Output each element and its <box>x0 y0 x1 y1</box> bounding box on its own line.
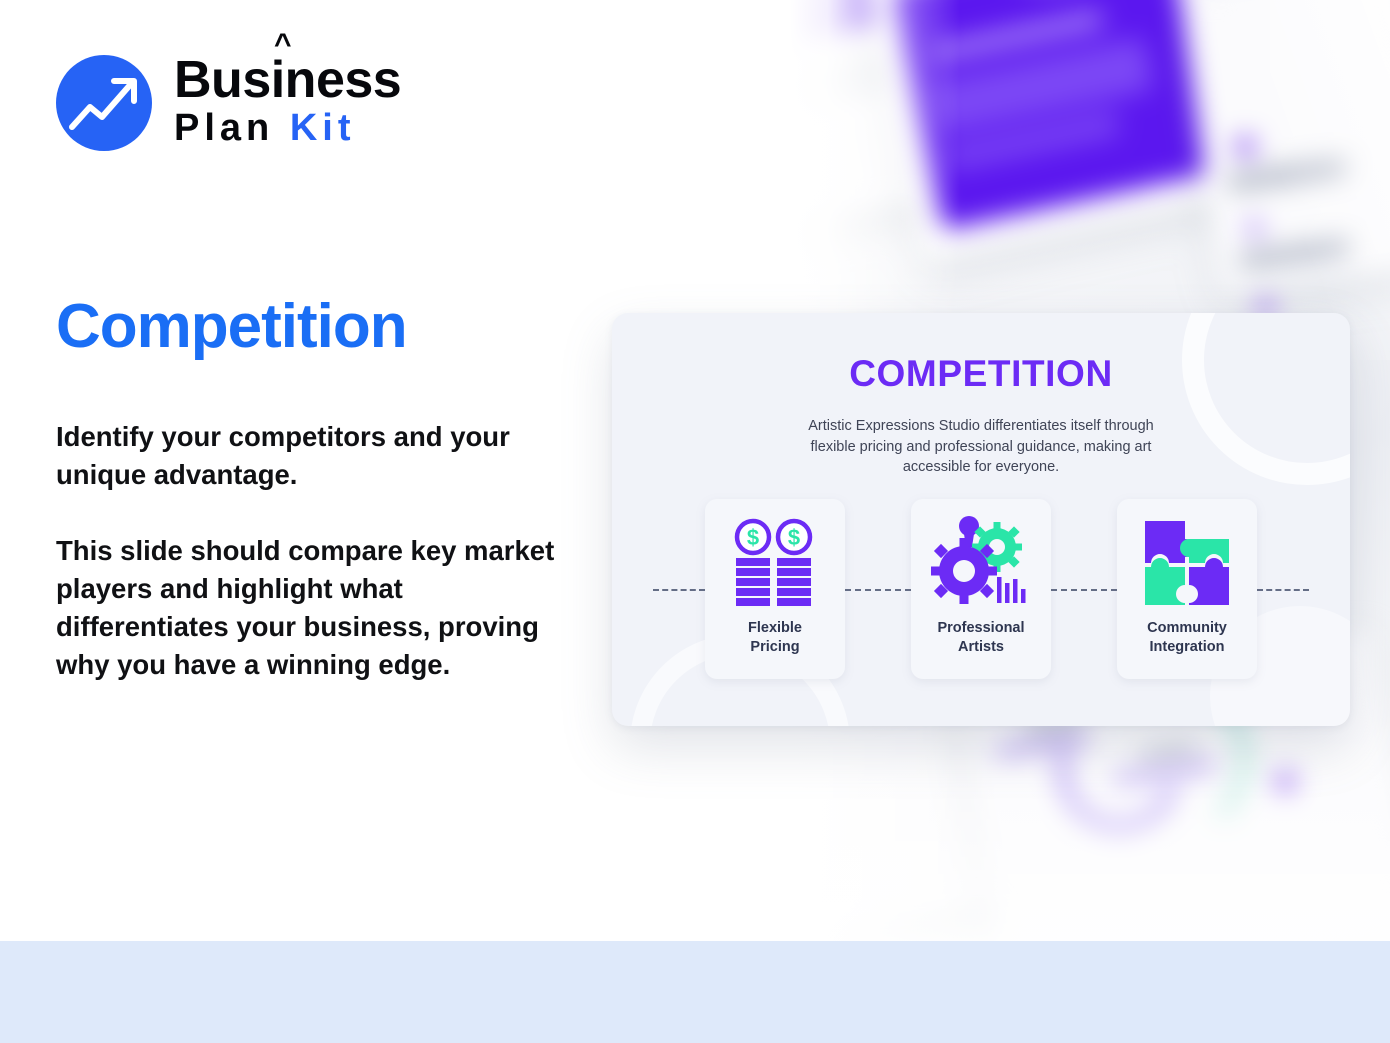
page-title: Competition <box>56 296 407 358</box>
lead-paragraph: Identify your competitors and your uniqu… <box>56 418 566 494</box>
body-paragraph: This slide should compare key market pla… <box>56 532 566 684</box>
connector-dashed-line <box>653 589 705 591</box>
pillar-row: $ $ <box>612 499 1350 679</box>
slide-preview-card[interactable]: COMPETITION Artistic Expressions Studio … <box>612 313 1350 726</box>
pillar-card-professional-artists[interactable]: Professional Artists <box>911 499 1051 679</box>
pillar-label-line1: Flexible <box>748 620 802 636</box>
slide-subtitle: Artistic Expressions Studio differentiat… <box>791 416 1171 478</box>
brand-caret-accent: ^ <box>274 31 291 60</box>
brand-name-line1: Business ^ <box>174 56 401 106</box>
pillar-label: Professional Artists <box>937 619 1024 657</box>
pillar-label-line2: Artists <box>958 639 1004 655</box>
bottom-accent-strip <box>0 941 1390 1043</box>
coin-stacks-icon: $ $ <box>725 511 825 615</box>
pillar-label: Community Integration <box>1147 619 1227 657</box>
slide-template-page: Business ^ Plan Kit Competition Identify… <box>0 0 1390 1043</box>
svg-text:$: $ <box>788 525 800 550</box>
decorative-ring <box>1182 313 1350 485</box>
connector-dashed-line <box>845 589 911 591</box>
connector-dashed-line <box>1257 589 1309 591</box>
pillar-label: Flexible Pricing <box>748 619 802 657</box>
brand-wordmark: Business ^ Plan Kit <box>174 56 401 150</box>
pillar-label-line1: Professional <box>937 620 1024 636</box>
pillar-card-community-integration[interactable]: Community Integration <box>1117 499 1257 679</box>
gears-lightbulb-chart-icon <box>929 511 1033 615</box>
photo-corner-fade <box>1270 0 1390 360</box>
photo-bottom-fade <box>790 711 1390 941</box>
brand-logo: Business ^ Plan Kit <box>56 55 401 151</box>
growth-arrow-circle-icon <box>56 55 152 151</box>
svg-text:$: $ <box>747 525 759 550</box>
puzzle-pieces-icon <box>1139 511 1235 615</box>
pillar-label-line2: Pricing <box>750 639 799 655</box>
slide-title: COMPETITION <box>612 353 1350 395</box>
brand-name-line2: Plan Kit <box>174 108 401 150</box>
pillar-label-line2: Integration <box>1150 639 1225 655</box>
connector-dashed-line <box>1051 589 1117 591</box>
pillar-card-flexible-pricing[interactable]: $ $ <box>705 499 845 679</box>
brand-name-plan: Plan <box>174 107 274 149</box>
pillar-label-line1: Community <box>1147 620 1227 636</box>
brand-name-kit: Kit <box>290 107 356 149</box>
